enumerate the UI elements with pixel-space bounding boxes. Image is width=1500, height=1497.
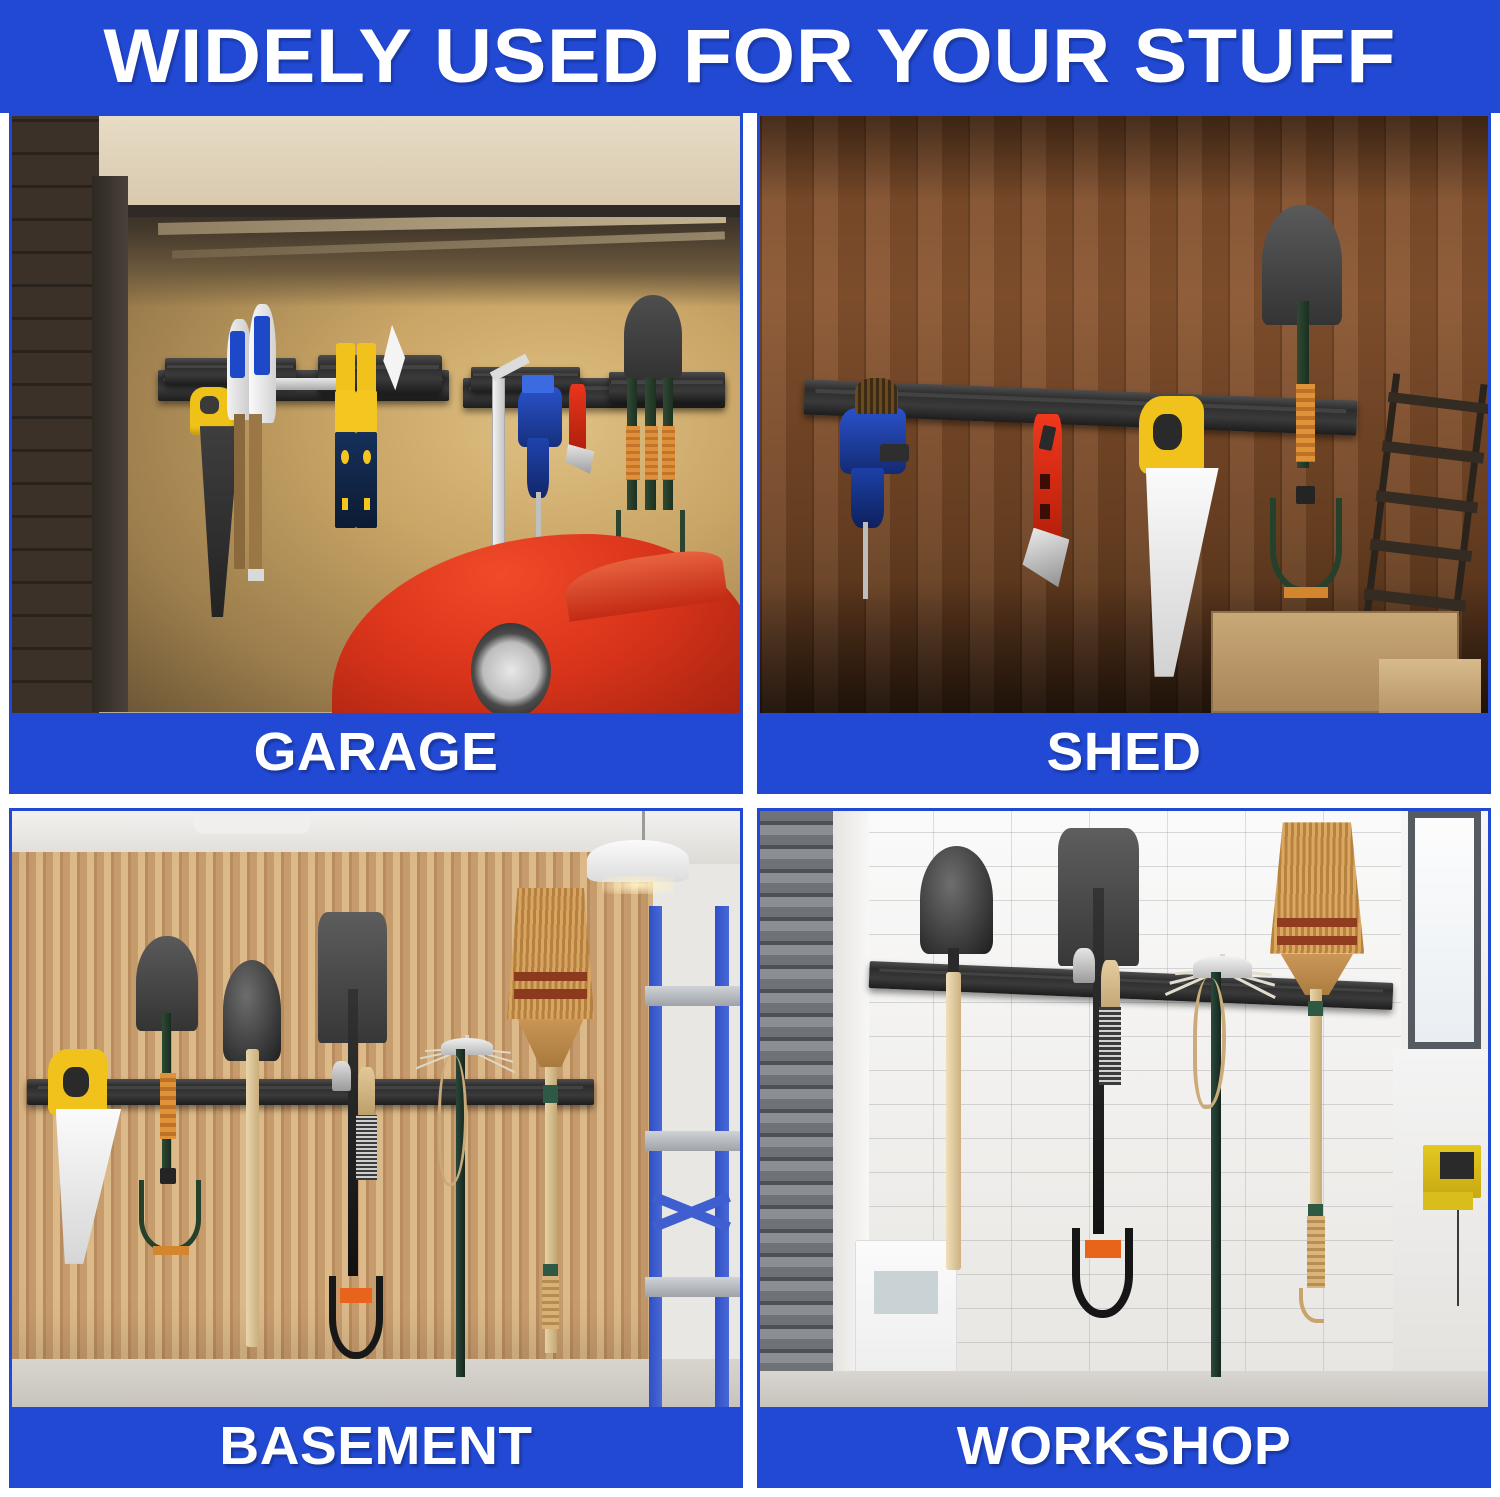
garage-photo <box>12 116 740 713</box>
shed-photo <box>760 116 1488 713</box>
product-infographic: WIDELY USED FOR YOUR STUFF <box>0 0 1500 1497</box>
panel-basement[interactable]: BASEMENT <box>9 808 743 1489</box>
workshop-photo <box>760 811 1488 1408</box>
caption-workshop: WORKSHOP <box>757 1407 1491 1485</box>
storage-shelf <box>645 906 740 1407</box>
basement-photo <box>12 811 740 1408</box>
panel-grid: GARAGE <box>0 113 1500 1497</box>
caption-garage: GARAGE <box>9 713 743 791</box>
panel-workshop[interactable]: WORKSHOP <box>757 808 1491 1489</box>
caption-basement: BASEMENT <box>9 1407 743 1485</box>
caption-shed: SHED <box>757 713 1491 791</box>
panel-shed[interactable]: SHED <box>757 113 1491 794</box>
page-title: WIDELY USED FOR YOUR STUFF <box>104 19 1396 95</box>
panel-garage[interactable]: GARAGE <box>9 113 743 794</box>
title-banner: WIDELY USED FOR YOUR STUFF <box>0 0 1500 113</box>
